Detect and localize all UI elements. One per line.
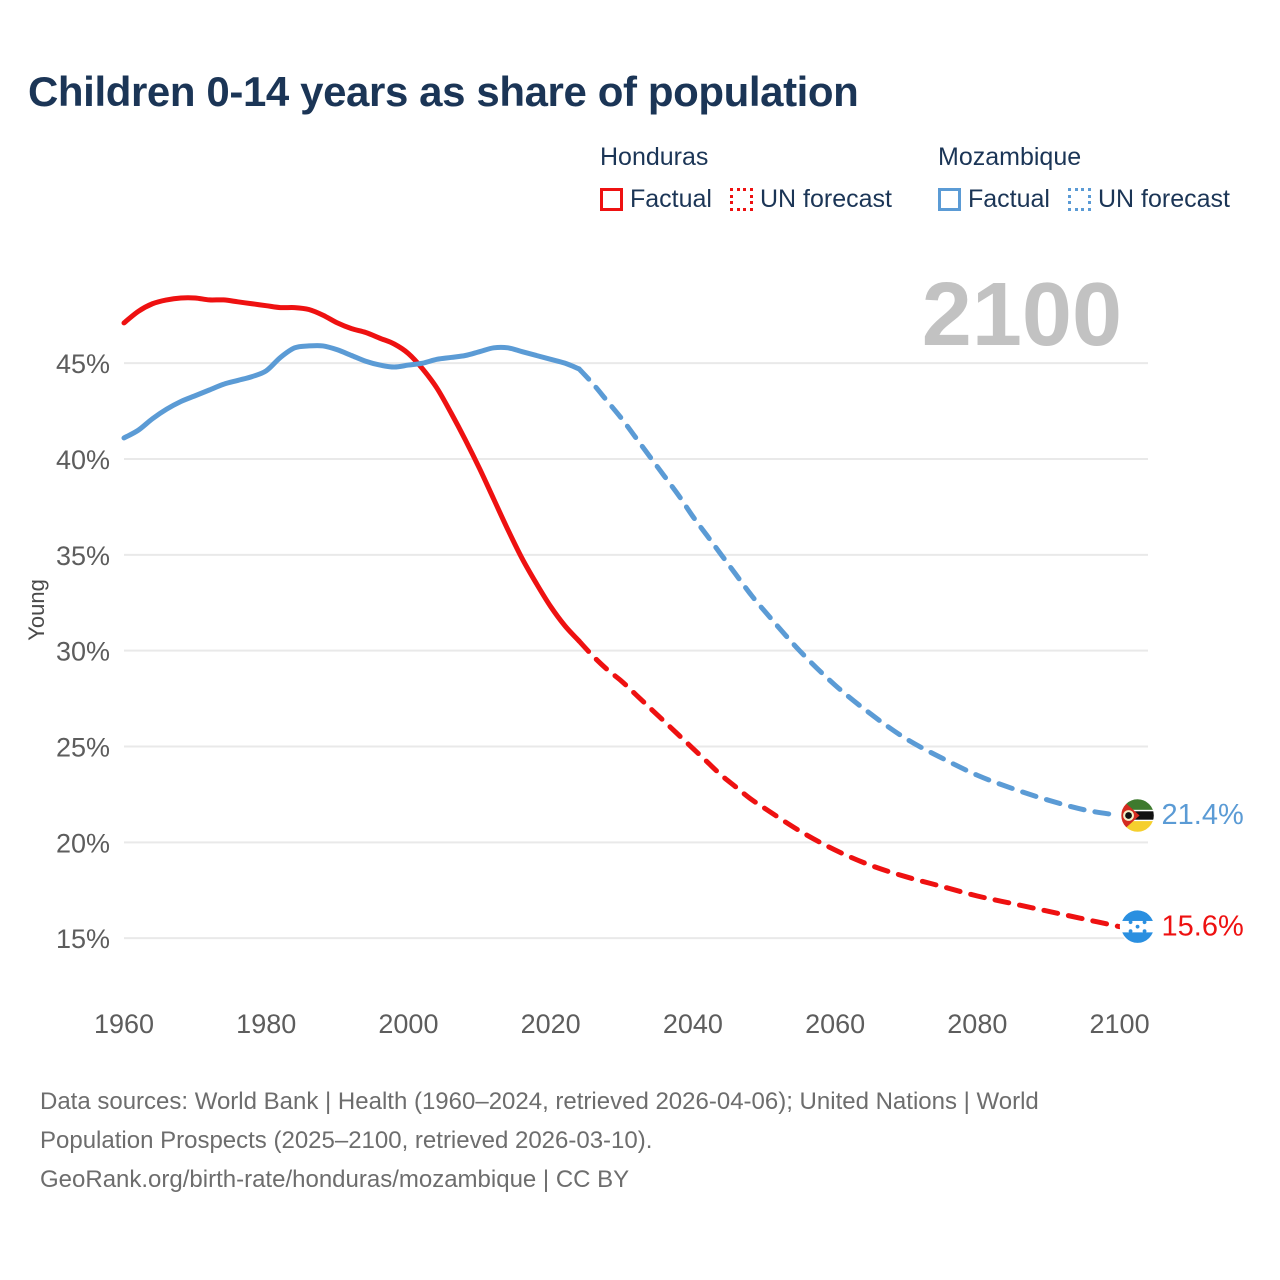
footer-line-1: Data sources: World Bank | Health (1960–… (40, 1082, 1220, 1121)
y-tick-label: 40% (56, 445, 110, 475)
x-tick-label: 2100 (1090, 1009, 1150, 1039)
x-tick-label: 2080 (947, 1009, 1007, 1039)
end-label-mozambique: 21.4% (1121, 799, 1244, 833)
end-label-honduras: 15.6% (1121, 910, 1244, 944)
mozambique-flag-icon (1121, 799, 1155, 833)
y-tick-label: 35% (56, 541, 110, 571)
year-watermark: 2100 (922, 265, 1122, 365)
honduras-flag-icon (1121, 910, 1155, 944)
x-tick-label: 1980 (236, 1009, 296, 1039)
x-axis-ticks: 19601980200020202040206020802100 (94, 1009, 1150, 1039)
chart-page: Children 0-14 years as share of populati… (0, 0, 1280, 1280)
x-tick-label: 2000 (378, 1009, 438, 1039)
gridlines (124, 363, 1148, 938)
series-line-honduras-forecast (579, 641, 1119, 927)
x-tick-label: 1960 (94, 1009, 154, 1039)
y-axis-ticks: 15%20%25%30%35%40%45% (56, 349, 110, 954)
end-labels: 21.4%15.6% (1121, 799, 1244, 944)
series-line-mozambique-forecast (579, 369, 1119, 816)
series-lines (124, 298, 1120, 927)
footer-line-2: Population Prospects (2025–2100, retriev… (40, 1121, 1220, 1160)
end-label-value: 21.4% (1162, 799, 1244, 831)
footer-sources: Data sources: World Bank | Health (1960–… (40, 1082, 1220, 1199)
series-line-mozambique-factual (124, 346, 579, 438)
y-axis-title: Young (24, 579, 49, 641)
x-tick-label: 2060 (805, 1009, 865, 1039)
y-tick-label: 45% (56, 349, 110, 379)
y-tick-label: 25% (56, 733, 110, 763)
line-chart-svg: 15%20%25%30%35%40%45% 196019802000202020… (0, 0, 1280, 1060)
x-tick-label: 2040 (663, 1009, 723, 1039)
end-label-value: 15.6% (1162, 910, 1244, 942)
y-tick-label: 30% (56, 637, 110, 667)
footer-line-3: GeoRank.org/birth-rate/honduras/mozambiq… (40, 1160, 1220, 1199)
x-tick-label: 2020 (521, 1009, 581, 1039)
y-tick-label: 20% (56, 828, 110, 858)
plot-area: 15%20%25%30%35%40%45% 196019802000202020… (0, 0, 1280, 1060)
y-tick-label: 15% (56, 924, 110, 954)
